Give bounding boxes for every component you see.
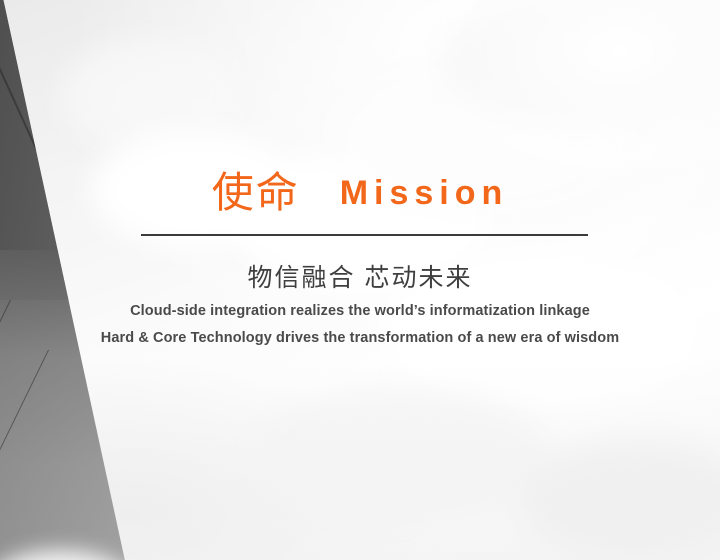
description-line-1: Cloud-side integration realizes the worl…: [0, 303, 720, 319]
page-title-en: Mission: [340, 174, 509, 212]
heading-divider: [141, 234, 588, 236]
banner-content: 使命Mission 物信融合 芯动未来 Cloud-side integrati…: [0, 0, 720, 560]
description-line-2: Hard & Core Technology drives the transf…: [0, 330, 720, 346]
page-title-cn: 使命: [212, 169, 300, 216]
subtitle-cn: 物信融合 芯动未来: [0, 258, 720, 294]
mission-banner: 使命Mission 物信融合 芯动未来 Cloud-side integrati…: [0, 0, 720, 560]
page-title: 使命Mission: [0, 172, 720, 214]
